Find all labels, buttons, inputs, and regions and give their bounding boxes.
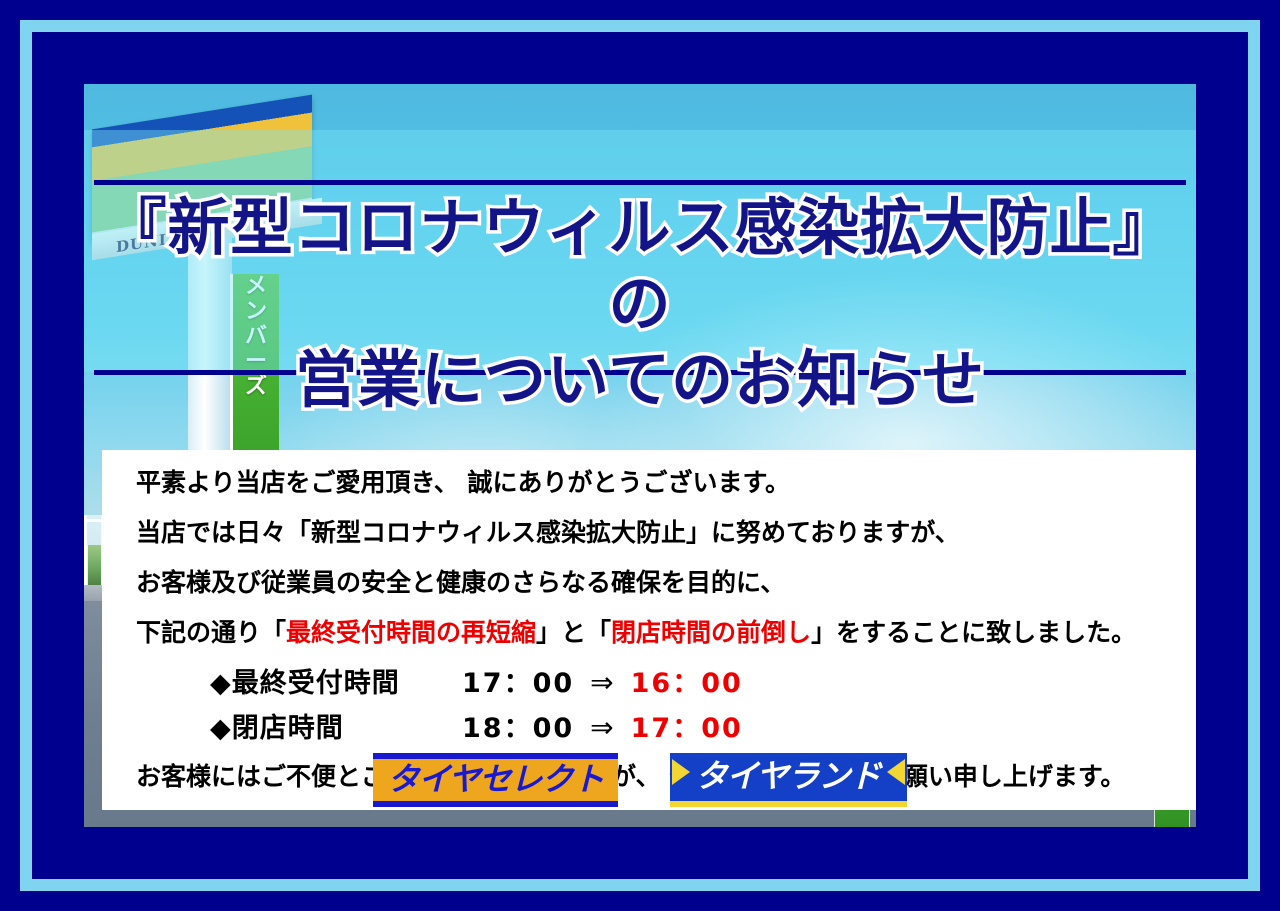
diamond-icon: ◆ <box>210 713 232 744</box>
arrow-icon: ⇒ <box>574 711 630 744</box>
hours-label-text: 閉店時間 <box>232 713 344 744</box>
measure-line: 下記の通り「最終受付時間の再短縮」と「閉店時間の前倒し」をすることに致しました。 <box>136 618 1196 648</box>
poster: DUNLOP メ ン バ ー ズ タ イ ヤ 『新型コロナウィルス感染拡大防止』… <box>0 0 1280 911</box>
hours-row-last-reception: ◆最終受付時間17：00⇒16：00 <box>136 668 1196 699</box>
logo-tire-land: タイヤランド <box>670 753 907 807</box>
logo-tire-land-label: タイヤランド <box>696 757 881 795</box>
hours-old-value: 17：00 <box>462 668 574 699</box>
background-photo: DUNLOP メ ン バ ー ズ タ イ ヤ 『新型コロナウィルス感染拡大防止』… <box>84 84 1196 827</box>
notice-paragraph-2: 当店では日々「新型コロナウィルス感染拡大防止」に努めておりますが、 <box>136 518 1196 548</box>
wedge-left-icon <box>672 759 690 785</box>
measure-highlight-2: 閉店時間の前倒し <box>611 618 811 647</box>
logo-tire-select-label: タイヤセレクト <box>387 760 603 798</box>
measure-prefix: 下記の通り「 <box>136 618 286 647</box>
hours-new-value: 17：00 <box>631 713 743 744</box>
measure-suffix: 」をすることに致しました。 <box>811 618 1136 647</box>
measure-middle: 」と「 <box>536 618 611 647</box>
notice-paragraph-3: お客様及び従業員の安全と健康のさらなる確保を目的に、 <box>136 568 1196 598</box>
hours-new-value: 16：00 <box>631 668 743 699</box>
page-title: 『新型コロナウィルス感染拡大防止』の 営業についてのお知らせ <box>84 190 1196 418</box>
wedge-right-icon <box>887 759 905 785</box>
brand-logo-row: タイヤセレクト タイヤランド <box>84 753 1196 807</box>
logo-tire-select: タイヤセレクト <box>373 753 617 807</box>
hours-label-text: 最終受付時間 <box>232 668 400 699</box>
hours-label: ◆最終受付時間 <box>210 669 462 699</box>
diamond-icon: ◆ <box>210 668 232 699</box>
frame-inner-band: DUNLOP メ ン バ ー ズ タ イ ヤ 『新型コロナウィルス感染拡大防止』… <box>32 32 1248 879</box>
hours-row-closing-time: ◆閉店時間18：00⇒17：00 <box>136 713 1196 744</box>
hours-old-value: 18：00 <box>462 713 574 744</box>
measure-highlight-1: 最終受付時間の再短縮 <box>286 618 536 647</box>
notice-paragraph-1: 平素より当店をご愛用頂き、 誠にありがとうございます。 <box>136 468 1196 498</box>
hours-label: ◆閉店時間 <box>210 714 462 744</box>
title-rule-top <box>94 180 1186 185</box>
arrow-icon: ⇒ <box>574 666 630 699</box>
